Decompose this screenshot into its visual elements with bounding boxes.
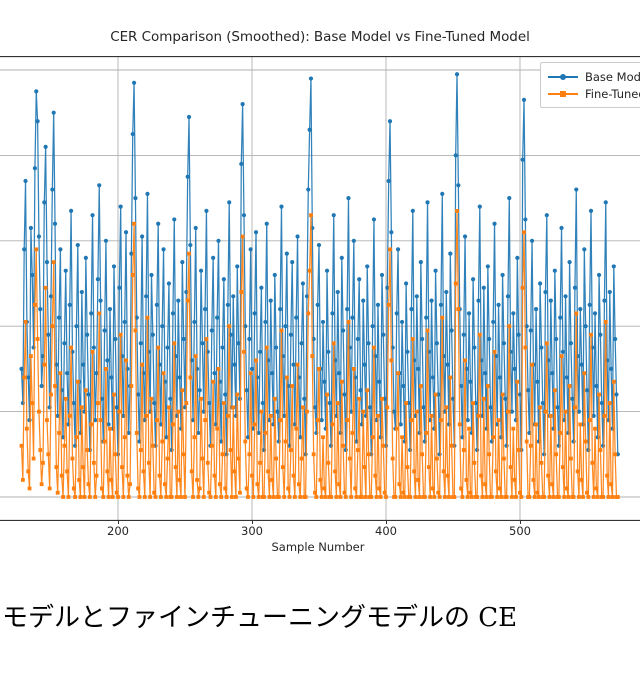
legend-label-fine-tuned-model: Fine-Tuned Model	[585, 87, 640, 101]
chart-legend[interactable]: Base Model Fine-Tuned Model	[540, 62, 640, 108]
plot-svg	[0, 56, 640, 521]
legend-item-base-model[interactable]: Base Model	[548, 68, 640, 85]
legend-swatch-base-model	[548, 71, 578, 83]
x-tick-label-400: 400	[375, 524, 397, 538]
legend-item-fine-tuned-model[interactable]: Fine-Tuned Model	[548, 85, 640, 102]
series-layer	[19, 72, 620, 499]
x-tick-mark-300	[252, 520, 253, 524]
x-tick-label-500: 500	[509, 524, 531, 538]
x-tick-mark-500	[520, 520, 521, 524]
x-axis-label: Sample Number	[0, 540, 636, 554]
figure-caption-text: スモデルとファインチューニングモデルの CE	[0, 596, 517, 640]
x-tick-mark-200	[118, 520, 119, 524]
chart-title: CER Comparison (Smoothed): Base Model vs…	[0, 29, 640, 45]
figure-caption: スモデルとファインチューニングモデルの CE	[0, 596, 640, 656]
chart-figure: CER Comparison (Smoothed): Base Model vs…	[0, 0, 640, 580]
legend-swatch-fine-tuned-model	[548, 88, 578, 100]
plot-area	[0, 56, 640, 521]
x-tick-label-300: 300	[241, 524, 263, 538]
x-tick-label-200: 200	[107, 524, 129, 538]
x-tick-mark-400	[386, 520, 387, 524]
legend-label-base-model: Base Model	[585, 70, 640, 84]
